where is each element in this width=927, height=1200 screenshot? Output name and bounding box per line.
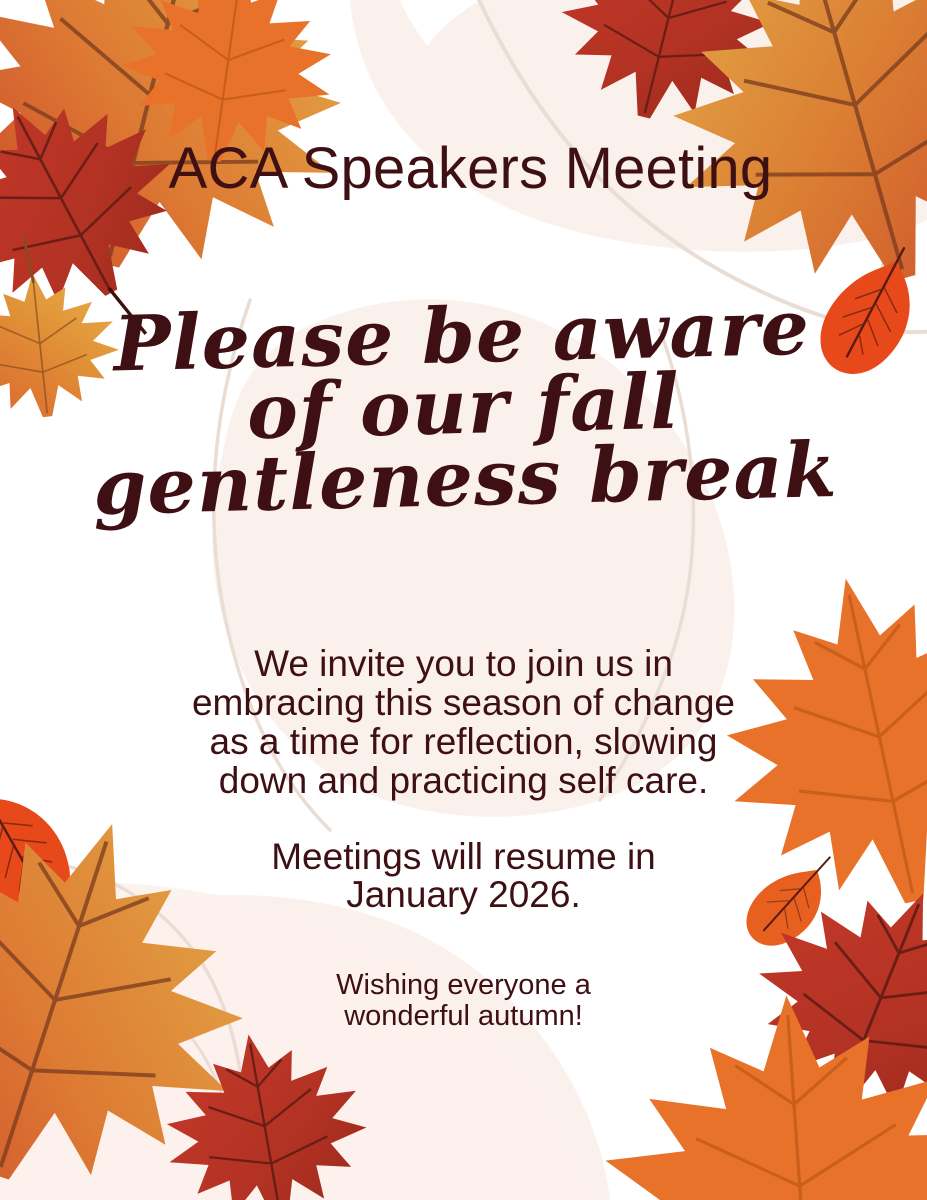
closing-message: Wishing everyone a wonderful autumn! — [0, 970, 927, 1033]
body-paragraph: We invite you to join us in embracing th… — [0, 645, 927, 800]
autumn-flyer: ACA Speakers Meeting Please be aware of … — [0, 0, 927, 1200]
text-layer: ACA Speakers Meeting Please be aware of … — [0, 0, 927, 1200]
headline-line-3: gentleness break — [1, 432, 927, 526]
resume-notice: Meetings will resume in January 2026. — [0, 838, 927, 913]
page-title: ACA Speakers Meeting — [0, 140, 927, 198]
headline-script: Please be aware of our fall gentleness b… — [0, 289, 927, 526]
